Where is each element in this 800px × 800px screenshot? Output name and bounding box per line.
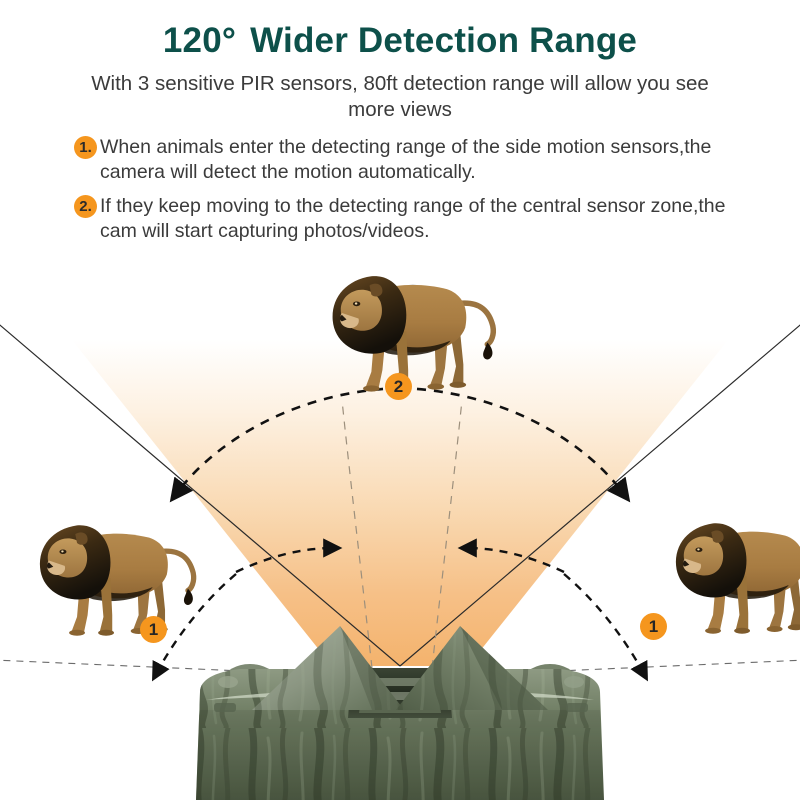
marker-badge-right: 1 xyxy=(640,613,667,640)
marker-badge-left: 1 xyxy=(140,616,167,643)
title-degrees: 120° xyxy=(163,21,236,60)
title-main: Wider Detection Range xyxy=(250,21,637,60)
step-text: When animals enter the detecting range o… xyxy=(100,134,744,184)
list-item: 2. If they keep moving to the detecting … xyxy=(74,193,744,243)
detection-range-diagram: 2 1 1 xyxy=(0,248,800,800)
step-number-badge: 2. xyxy=(74,195,97,218)
step-text: If they keep moving to the detecting ran… xyxy=(100,193,744,243)
step-number-badge: 1. xyxy=(74,136,97,159)
page-title: 120°Wider Detection Range xyxy=(0,0,800,61)
marker-badge-center: 2 xyxy=(385,373,412,400)
instruction-list: 1. When animals enter the detecting rang… xyxy=(74,134,744,252)
list-item: 1. When animals enter the detecting rang… xyxy=(74,134,744,184)
product-infographic: 120°Wider Detection Range With 3 sensiti… xyxy=(0,0,800,800)
header: 120°Wider Detection Range With 3 sensiti… xyxy=(0,0,800,123)
page-subtitle: With 3 sensitive PIR sensors, 80ft detec… xyxy=(70,61,730,123)
